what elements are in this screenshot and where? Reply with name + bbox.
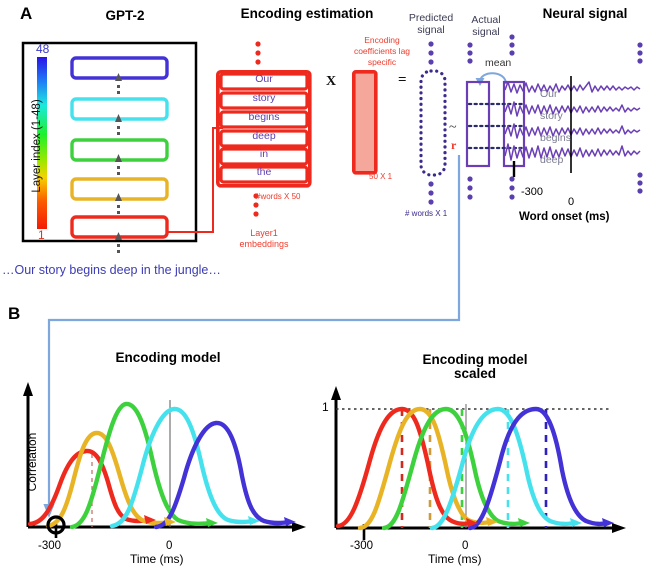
layer-box-48: [72, 58, 167, 78]
right-xtick-minus300: -300: [350, 540, 373, 552]
gpt2-title: GPT-2: [60, 8, 190, 23]
left-xtick-zero: 0: [166, 540, 172, 552]
encoding-estimation-title: Encoding estimation: [222, 6, 392, 21]
lag-tick-label: -300: [521, 186, 543, 198]
signal-dots-bottom-right: [634, 172, 647, 198]
coefficients-label-line1: Encoding: [337, 35, 427, 46]
neural-signal-plot: [458, 68, 658, 188]
signal-row-label-3: deep: [540, 154, 563, 166]
embedding-matrix: [218, 40, 265, 66]
right-ytick-one: 1: [322, 400, 329, 414]
encoding-model-title: Encoding model: [98, 350, 238, 365]
signal-row-label-1: story: [540, 110, 563, 122]
coefficients-label-line2: coefficients lag: [332, 46, 432, 57]
actual-signal-label-line2: signal: [460, 26, 512, 38]
embedding-dots-top: [252, 40, 265, 66]
actual-dots-bottom-left: [464, 176, 477, 206]
encoding-model-scaled-chart: [316, 378, 646, 538]
actual-dots-bottom-right: [506, 176, 519, 206]
equals-symbol: =: [398, 72, 407, 89]
correlation-tilde: ~: [449, 120, 457, 136]
layer-box-36: [72, 99, 167, 119]
predicted-dots-top: [425, 40, 438, 68]
word-onset-axis-label: Word onset (ms): [519, 211, 610, 223]
multiply-symbol: X: [326, 74, 336, 90]
panel-a-letter: A: [20, 4, 32, 24]
left-xtick-minus300: -300: [38, 540, 61, 552]
signal-row-label-0: Our: [540, 88, 558, 100]
right-time-axis-label: Time (ms): [428, 552, 482, 566]
signal-dots-top-right: [634, 42, 647, 68]
onset-tick-label: 0: [568, 196, 574, 208]
predicted-signal-label-line1: Predicted: [398, 12, 464, 24]
encoding-model-chart: [20, 372, 310, 537]
predicted-signal-label-line2: signal: [398, 24, 464, 36]
right-xtick-zero: 0: [462, 540, 468, 552]
embedding-word-2: begins: [221, 111, 307, 123]
signal-row-label-2: begins: [540, 132, 571, 144]
embedding-word-3: deep: [221, 130, 307, 142]
actual-signal-label-line1: Actual: [460, 14, 512, 26]
embedding-word-0: Our: [221, 73, 307, 85]
coefficients-label-line3: specific: [337, 57, 427, 68]
left-time-axis-label: Time (ms): [130, 552, 184, 566]
actual-dots-top-left: [464, 42, 477, 68]
embedding-word-1: story: [221, 92, 307, 104]
neural-signal-title: Neural signal: [520, 6, 650, 21]
layer-max-label: 48: [36, 42, 49, 56]
encoding-model-scaled-title-line1: Encoding model: [385, 352, 565, 367]
panel-b-letter: B: [8, 304, 20, 324]
